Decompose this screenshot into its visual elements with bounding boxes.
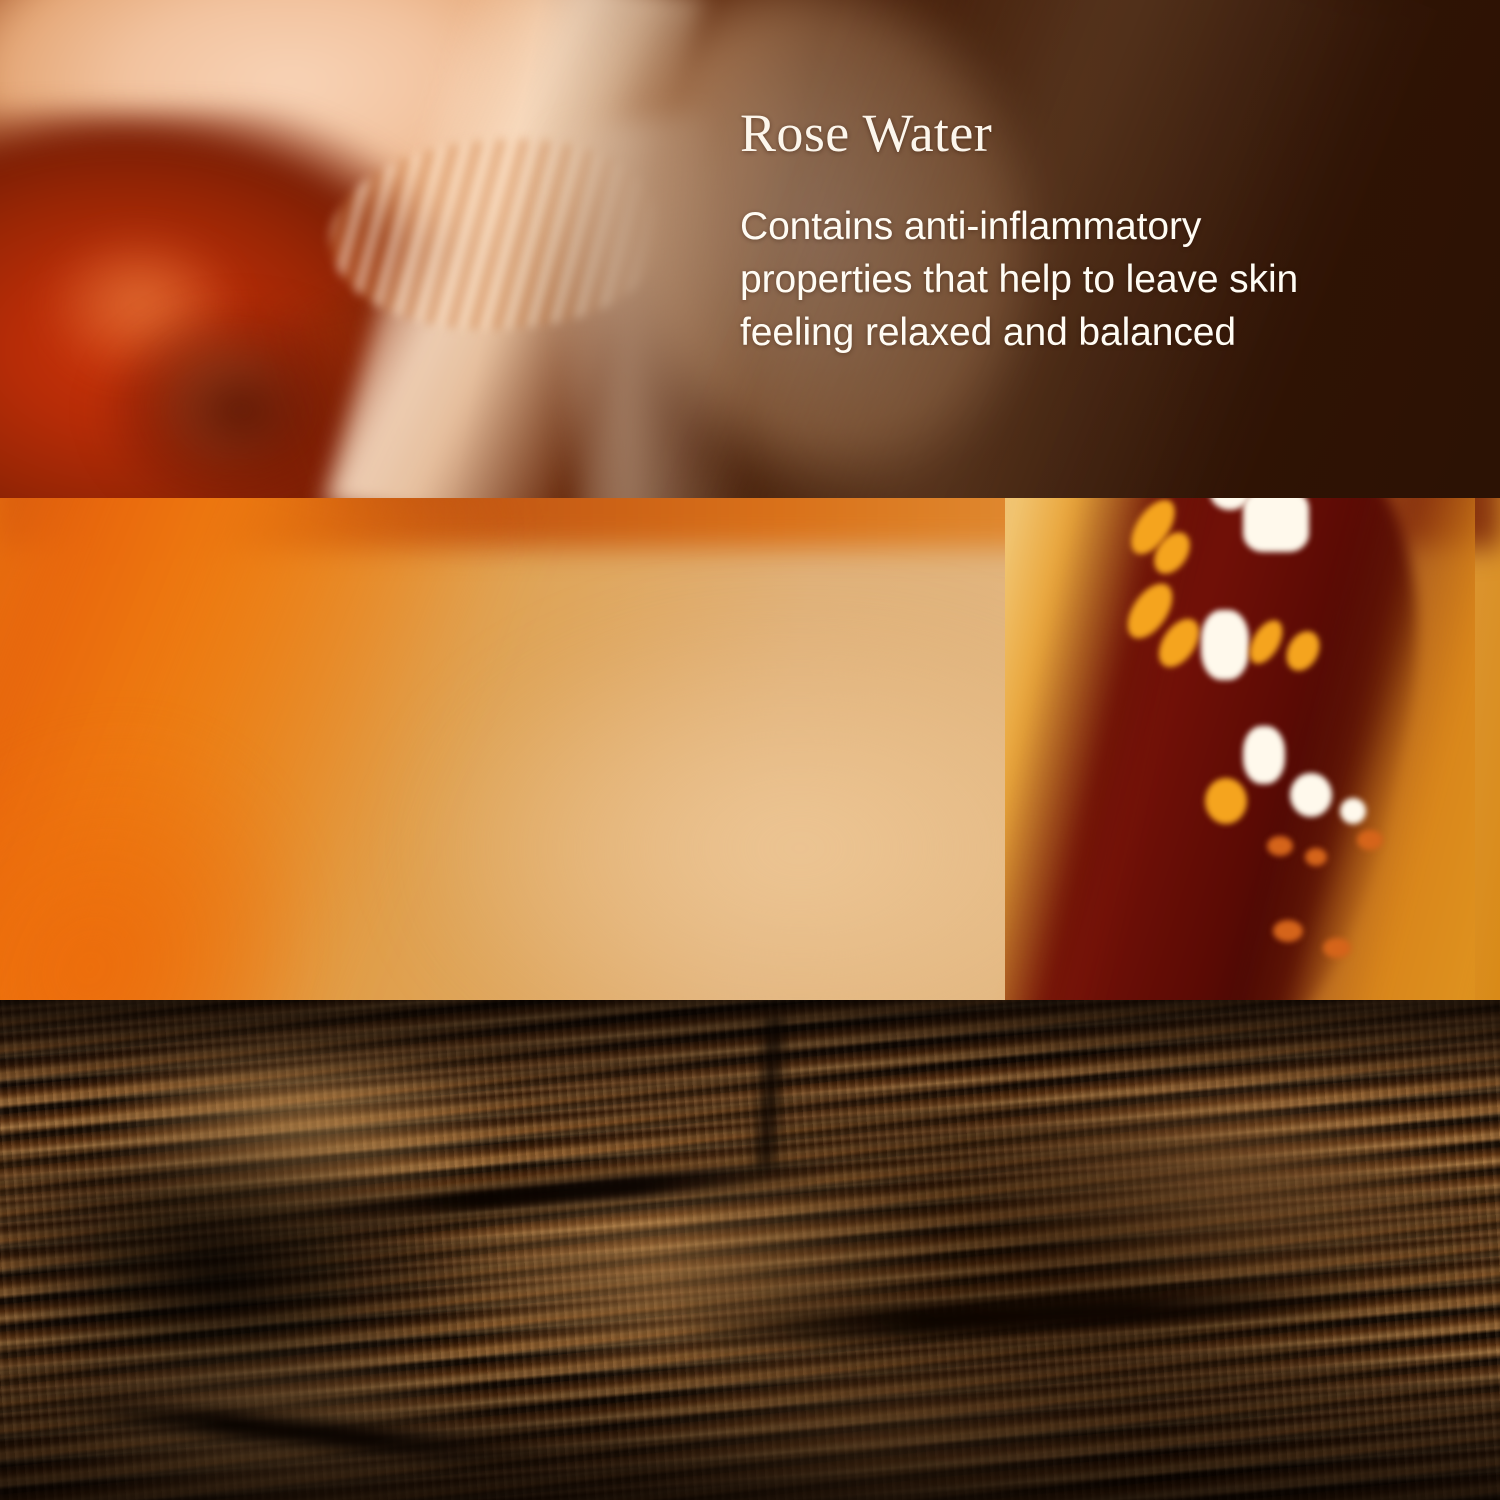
rose-water-description-line-3: feeling relaxed and balanced <box>740 306 1440 359</box>
gold-sparkle-17 <box>1273 920 1303 942</box>
gold-sparkle-11 <box>1290 773 1332 817</box>
bark-text-scrim <box>680 1060 1500 1490</box>
gold-sparkle-2 <box>1243 498 1309 552</box>
golden-liquid-macro-image <box>0 498 1500 1000</box>
gold-sparkle-18 <box>1323 938 1351 958</box>
panel-willow-bark-extract: Willow Bark Extract A natural, gentle ex… <box>0 1000 1500 1500</box>
gold-sparkle-10 <box>1243 726 1285 784</box>
rose-water-description-line-2: properties that help to leave skin <box>740 253 1440 306</box>
gold-liquid-band <box>1005 498 1475 1000</box>
gold-sparkle-13 <box>1205 778 1247 824</box>
gold-sparkle-16 <box>1357 830 1383 850</box>
gold-sparkle-7 <box>1201 610 1249 680</box>
rose-water-copy-block: Rose Water Contains anti-inflammatory pr… <box>740 104 1440 359</box>
gold-sparkle-12 <box>1340 798 1366 824</box>
rose-water-description-line-1: Contains anti-inflammatory <box>740 200 1440 253</box>
gold-sparkle-14 <box>1267 836 1293 856</box>
rose-water-title: Rose Water <box>740 104 1440 162</box>
panel-rose-water: Rose Water Contains anti-inflammatory pr… <box>0 0 1500 498</box>
ingredient-benefits-board: Rose Water Contains anti-inflammatory pr… <box>0 0 1500 1500</box>
rose-water-description: Contains anti-inflammatory properties th… <box>740 200 1440 359</box>
gold-sparkle-15 <box>1305 848 1327 866</box>
panel-colloidal-gold: Colloidal Gold Contains anti-inflammator… <box>0 498 1500 1000</box>
